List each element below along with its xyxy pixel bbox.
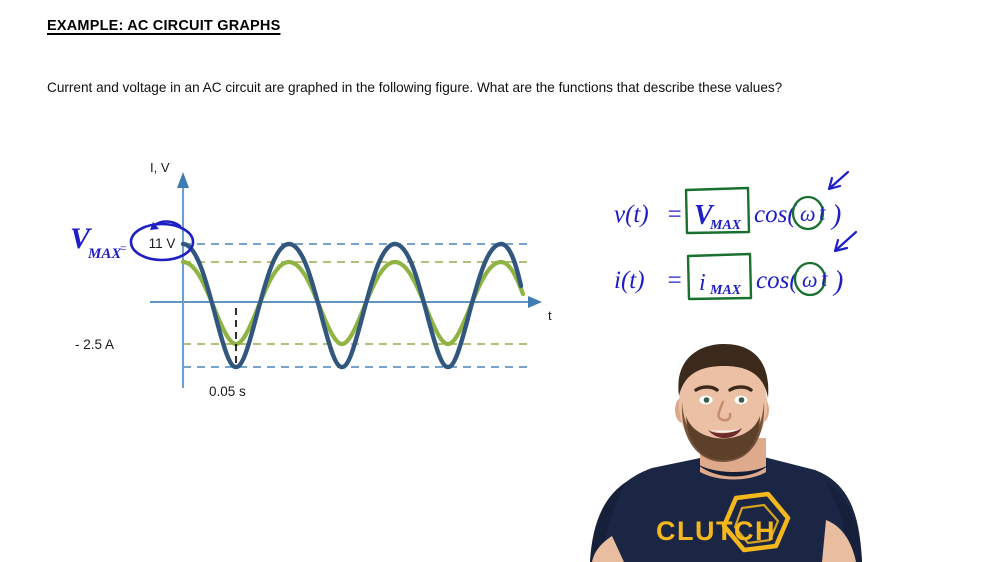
current-eq-lhs: i(t) xyxy=(614,267,645,294)
presenter-pupil-left xyxy=(704,397,710,403)
voltage-eq-close-paren: ) xyxy=(830,200,841,231)
y-axis-arrowhead xyxy=(177,172,189,188)
arrow-to-voltage-equation xyxy=(829,172,848,189)
current-amplitude-symbol: i xyxy=(699,270,706,296)
voltage-eq-cos: cos( xyxy=(754,201,797,228)
current-eq-equals: = xyxy=(666,267,683,294)
current-eq-close-paren: ) xyxy=(832,266,843,297)
y-axis-label: I, V xyxy=(150,160,170,175)
ac-circuit-graph: I, V t - 2.5 A 0.05 s V MAX = 11 V xyxy=(40,150,560,420)
presenter-pupil-right xyxy=(739,397,745,403)
current-t-symbol: t xyxy=(821,266,828,291)
x-axis-arrowhead xyxy=(528,296,542,308)
vmax-value-label: 11 V xyxy=(149,236,176,251)
x-axis-label: t xyxy=(548,308,552,323)
voltage-eq-equals: = xyxy=(666,201,683,228)
vmax-handwritten-annotation: V MAX = 11 V xyxy=(70,222,193,263)
voltage-amplitude-subscript: MAX xyxy=(709,218,742,233)
presenter-video-overlay: CLUTCH xyxy=(560,330,1000,562)
vmax-equals-sign: = xyxy=(120,241,127,255)
vmax-subscript: MAX xyxy=(87,246,122,262)
arrow-to-current-equation xyxy=(835,232,856,251)
page-title: EXAMPLE: AC CIRCUIT GRAPHS xyxy=(47,18,280,34)
current-equation: i(t) = i MAX cos( ω t ) xyxy=(614,254,843,299)
current-amplitude-subscript: MAX xyxy=(709,283,742,298)
current-eq-cos: cos( xyxy=(756,267,799,294)
voltage-omega-symbol: ω xyxy=(800,201,816,226)
question-text: Current and voltage in an AC circuit are… xyxy=(47,80,782,95)
clutch-logo-text: CLUTCH xyxy=(656,516,776,546)
current-omega-symbol: ω xyxy=(802,267,818,292)
current-min-label: - 2.5 A xyxy=(75,337,114,352)
handwritten-equations: v(t) = V MAX cos( ω t ) i(t) = i MAX cos… xyxy=(600,170,900,300)
voltage-t-symbol: t xyxy=(819,200,826,225)
voltage-equation: v(t) = V MAX cos( ω t ) xyxy=(614,188,841,233)
voltage-eq-lhs: v(t) xyxy=(614,201,649,228)
period-label: 0.05 s xyxy=(209,384,246,399)
